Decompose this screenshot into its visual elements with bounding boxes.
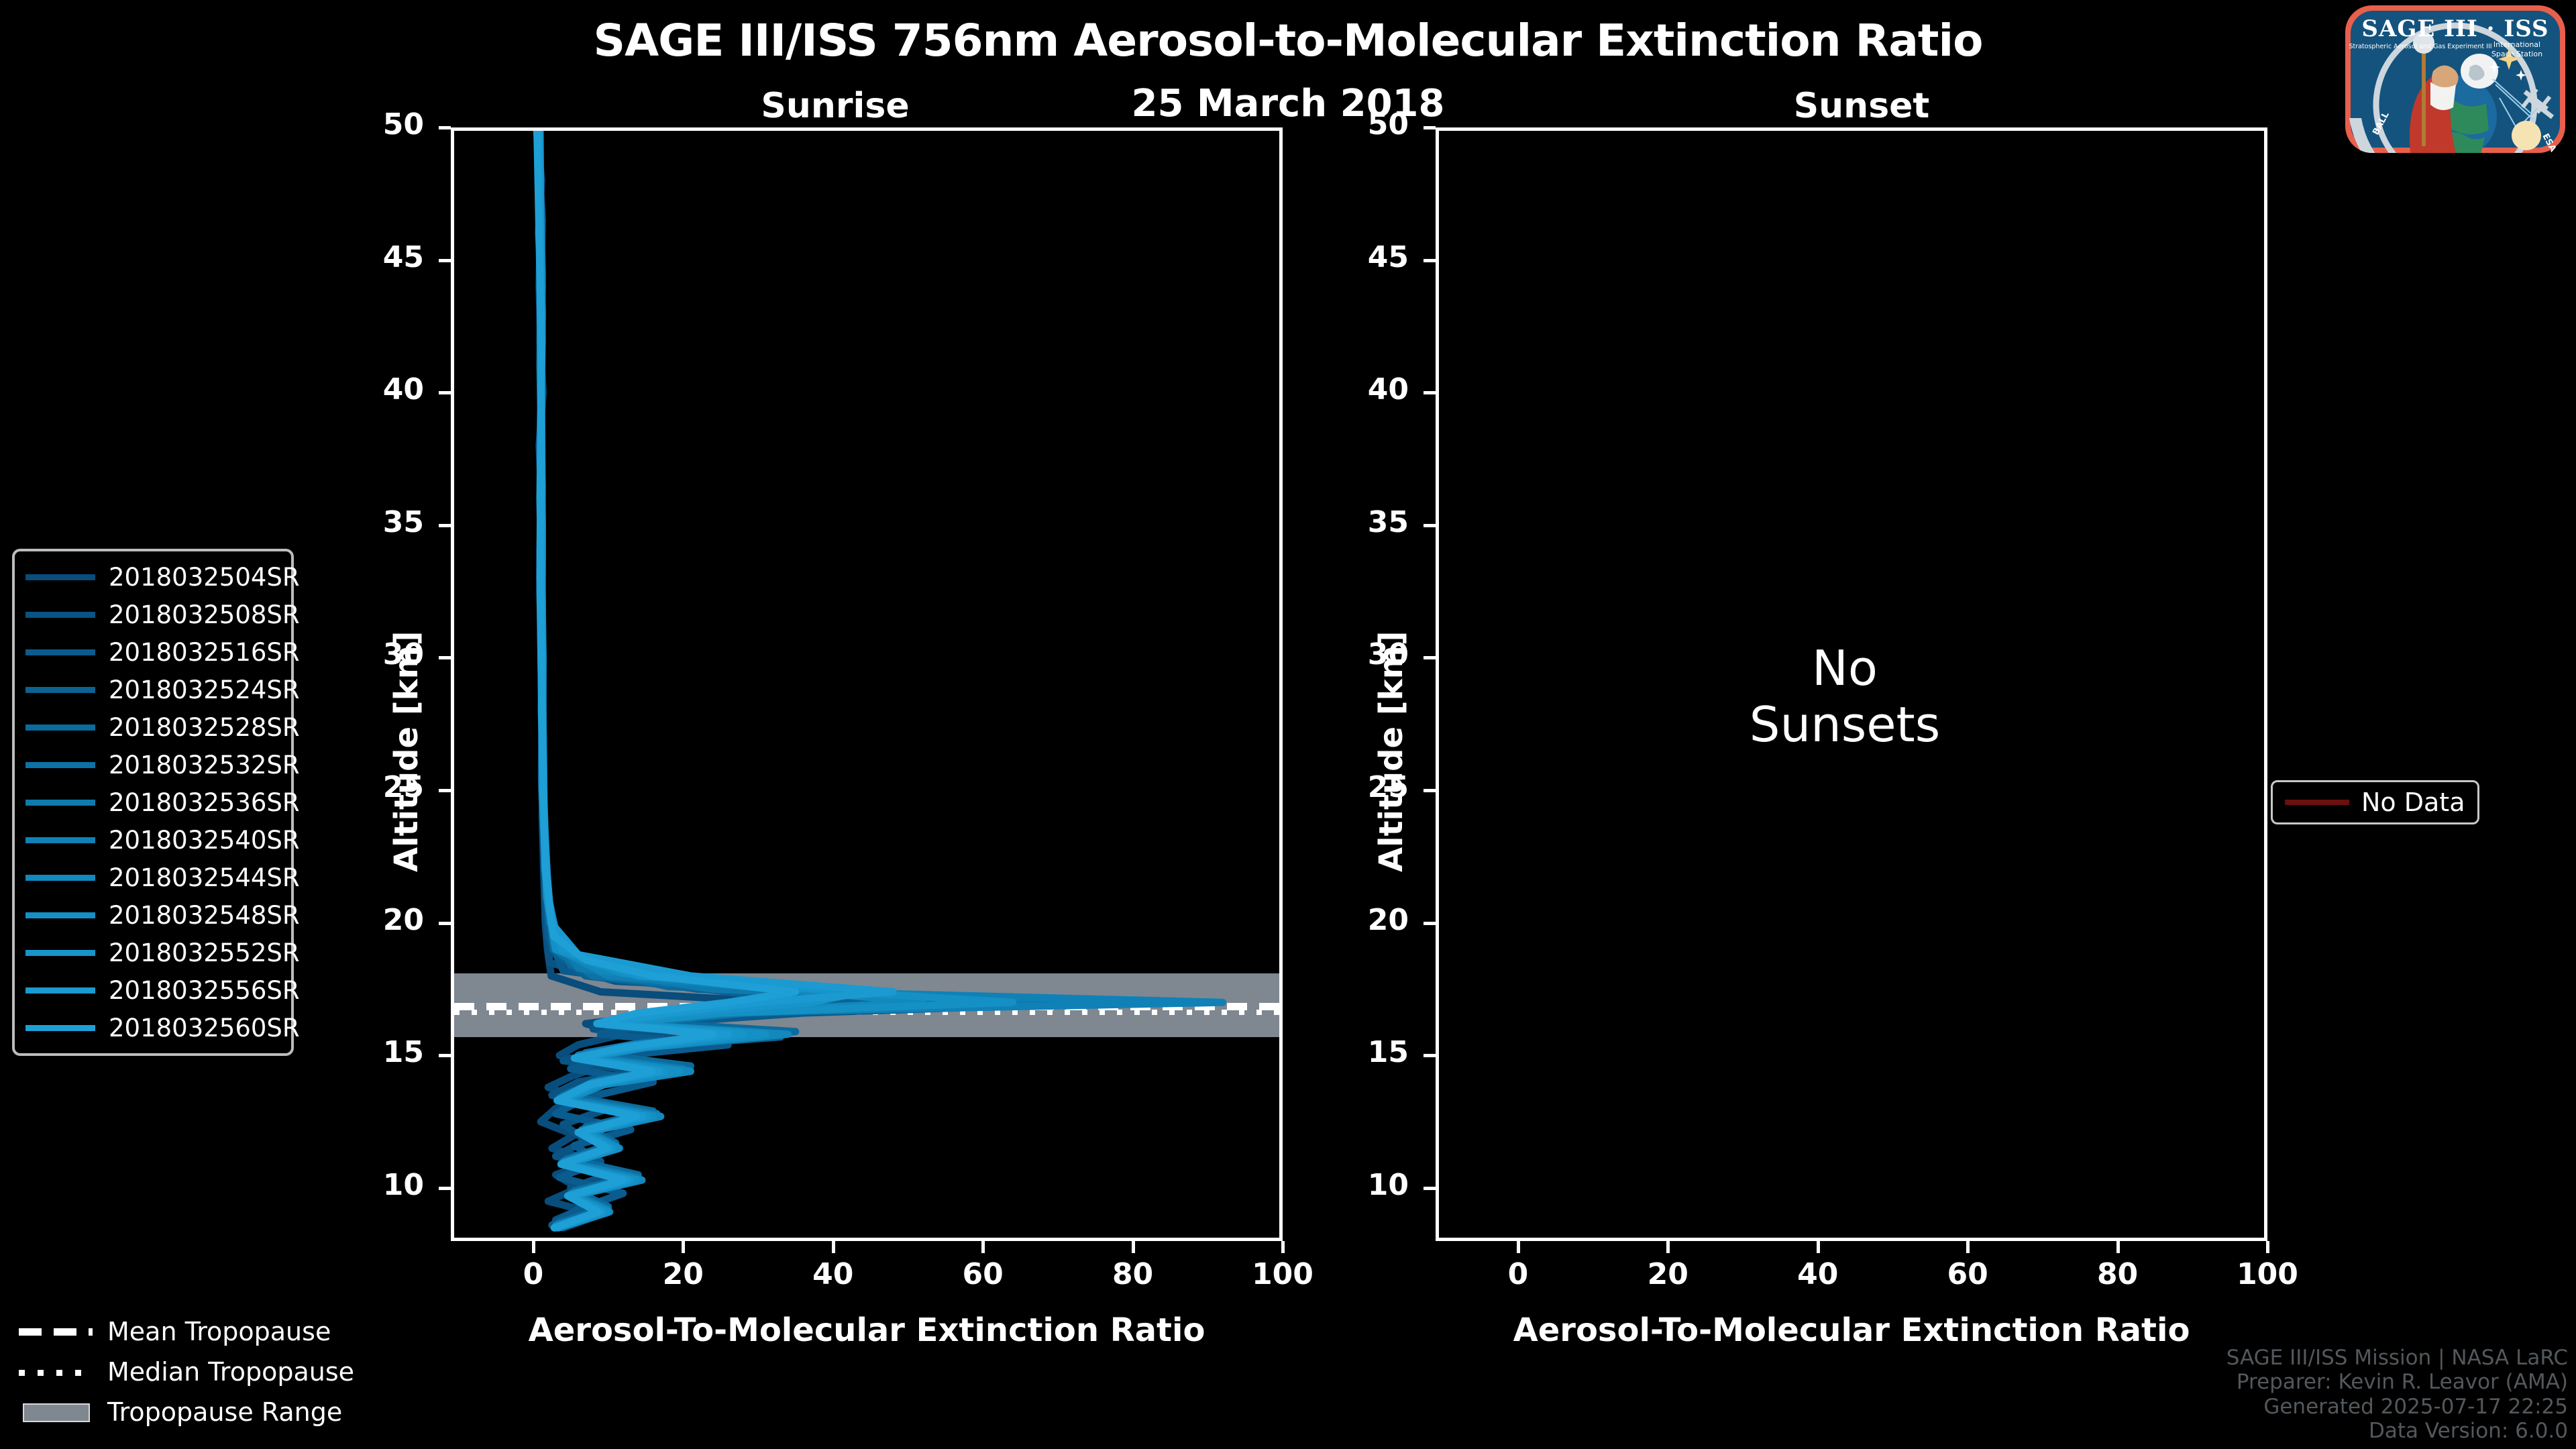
x-tick-label: 20 [1611,1257,1725,1291]
x-tick-label: 100 [1226,1257,1340,1291]
x-tick-mark [1666,1241,1670,1253]
legend-item[interactable]: 2018032508SR [15,596,291,633]
x-tick-label: 0 [476,1257,590,1291]
x-tick-mark [2266,1241,2269,1253]
x-tick-label: 0 [1461,1257,1575,1291]
y-tick-mark [439,391,451,394]
legend-label: 2018032556SR [109,976,300,1005]
y-tick-label: 20 [1295,903,1409,937]
x-tick-mark [1132,1241,1135,1253]
x-tick-label: 60 [926,1257,1040,1291]
legend-label: Median Tropopause [107,1357,354,1387]
legend-item[interactable]: 2018032516SR [15,633,291,671]
legend-label: 2018032516SR [109,638,300,667]
sunrise-panel-title: Sunrise [402,86,1268,126]
legend-item[interactable]: 2018032556SR [15,971,291,1009]
legend-color-swatch [25,574,95,580]
legend-color-swatch [25,687,95,693]
data-trace [537,131,1223,1225]
y-tick-mark [1424,524,1436,527]
y-tick-mark [439,524,451,527]
legend-color-swatch [25,837,95,843]
y-tick-mark [439,126,451,129]
x-tick-mark [682,1241,685,1253]
footer-line-generated: Generated 2025-07-17 22:25 [2226,1395,2568,1419]
svg-text:International: International [2493,40,2540,49]
legend-label: 2018032540SR [109,826,300,855]
legend-color-swatch [25,1025,95,1031]
no-sunsets-message: No Sunsets [1597,641,2093,753]
footer-line-mission: SAGE III/ISS Mission | NASA LaRC [2226,1346,2568,1371]
legend-color-swatch [25,875,95,881]
y-tick-mark [439,922,451,925]
legend-item[interactable]: 2018032544SR [15,859,291,896]
legend-label: 2018032536SR [109,788,300,817]
y-tick-label: 15 [1295,1035,1409,1069]
y-tick-label: 50 [1295,107,1409,142]
x-tick-label: 40 [776,1257,890,1291]
y-tick-label: 15 [310,1035,424,1069]
sunrise-plot-area[interactable] [451,127,1283,1241]
y-tick-mark [1424,259,1436,262]
legend-label: 2018032528SR [109,713,300,742]
x-tick-mark [981,1241,985,1253]
legend-item-median-tropopause: Median Tropopause [19,1352,381,1392]
legend-color-swatch [25,612,95,618]
series-legend[interactable]: 2018032504SR 2018032508SR 2018032516SR 2… [12,549,294,1056]
y-tick-mark [1424,922,1436,925]
x-tick-mark [1817,1241,1820,1253]
y-tick-mark [439,789,451,792]
footer-line-preparer: Preparer: Kevin R. Leavor (AMA) [2226,1370,2568,1395]
y-tick-mark [1424,1187,1436,1190]
svg-text:Stratospheric Aerosol and Gas: Stratospheric Aerosol and Gas Experiment… [2349,43,2491,50]
legend-label: Tropopause Range [107,1397,342,1427]
x-tick-label: 60 [1911,1257,2025,1291]
legend-item[interactable]: 2018032552SR [15,934,291,971]
legend-item[interactable]: 2018032532SR [15,746,291,784]
legend-item-tropopause-range: Tropopause Range [19,1392,381,1432]
y-tick-mark [439,1187,451,1190]
x-tick-mark [532,1241,535,1253]
legend-label: 2018032544SR [109,863,300,892]
x-tick-mark [1517,1241,1520,1253]
y-tick-mark [439,656,451,659]
y-tick-label: 20 [310,903,424,937]
legend-label: 2018032508SR [109,600,300,629]
legend-item[interactable]: 2018032536SR [15,784,291,821]
page-title: SAGE III/ISS 756nm Aerosol-to-Molecular … [0,15,2576,66]
dashed-line-icon [19,1323,93,1340]
filled-band-icon [19,1403,93,1421]
sunrise-x-axis-label: Aerosol-To-Molecular Extinction Ratio [451,1311,1283,1349]
legend-item[interactable]: 2018032548SR [15,896,291,934]
sunset-x-axis-label: Aerosol-To-Molecular Extinction Ratio [1436,1311,2267,1349]
svg-text:SAGE III · ISS: SAGE III · ISS [2361,15,2548,42]
legend-item-mean-tropopause: Mean Tropopause [19,1311,381,1352]
y-tick-mark [439,1054,451,1057]
figure-canvas: SAGE III/ISS 756nm Aerosol-to-Molecular … [0,0,2576,1449]
x-tick-mark [1281,1241,1285,1253]
legend-color-swatch [25,912,95,918]
legend-label: No Data [2361,788,2465,817]
y-tick-label: 45 [310,240,424,274]
legend-color-swatch [25,724,95,731]
x-tick-label: 40 [1761,1257,1875,1291]
y-tick-label: 45 [1295,240,1409,274]
legend-color-swatch [25,987,95,994]
legend-color-swatch [25,950,95,956]
footer-credits: SAGE III/ISS Mission | NASA LaRC Prepare… [2226,1346,2568,1444]
y-tick-mark [1424,391,1436,394]
x-tick-label: 100 [2210,1257,2324,1291]
x-tick-mark [2116,1241,2120,1253]
legend-item[interactable]: 2018032524SR [15,671,291,708]
y-tick-label: 50 [310,107,424,142]
y-tick-mark [1424,789,1436,792]
y-tick-label: 35 [1295,505,1409,539]
legend-label: Mean Tropopause [107,1317,331,1346]
legend-item[interactable]: 2018032560SR [15,1009,291,1046]
legend-item[interactable]: 2018032540SR [15,821,291,859]
sage-iii-iss-logo: SAGE III · ISS Stratospheric Aerosol and… [2341,4,2569,154]
legend-label: 2018032560SR [109,1014,300,1042]
y-tick-mark [439,259,451,262]
x-tick-label: 80 [1076,1257,1190,1291]
sunrise-data-traces [454,131,1279,1238]
legend-label: 2018032548SR [109,901,300,930]
y-tick-label: 35 [310,505,424,539]
legend-label: 2018032532SR [109,751,300,780]
legend-label: 2018032552SR [109,938,300,967]
legend-item[interactable]: 2018032504SR [15,558,291,596]
legend-label: 2018032524SR [109,676,300,704]
svg-text:Space Station: Space Station [2491,50,2542,58]
no-data-legend[interactable]: No Data [2271,780,2479,824]
footer-line-version: Data Version: 6.0.0 [2226,1419,2568,1444]
x-tick-label: 20 [626,1257,740,1291]
sunset-panel-title: Sunset [1429,86,2294,126]
x-tick-mark [832,1241,835,1253]
y-tick-label: 10 [1295,1168,1409,1202]
legend-item[interactable]: 2018032528SR [15,708,291,746]
y-tick-label: 10 [310,1168,424,1202]
sunrise-y-axis-label: Altitude [km] [388,631,425,872]
legend-color-swatch [2285,800,2349,805]
legend-label: 2018032504SR [109,563,300,592]
legend-color-swatch [25,649,95,655]
y-tick-mark [1424,656,1436,659]
y-tick-mark [1424,126,1436,129]
x-tick-mark [1966,1241,1970,1253]
legend-color-swatch [25,800,95,806]
legend-color-swatch [25,762,95,768]
y-tick-mark [1424,1054,1436,1057]
tropopause-legend: Mean Tropopause Median Tropopause Tropop… [19,1311,381,1432]
y-tick-label: 40 [310,372,424,407]
sunset-y-axis-label: Altitude [km] [1373,631,1410,872]
dotted-line-icon [19,1363,93,1381]
y-tick-label: 40 [1295,372,1409,407]
x-tick-label: 80 [2061,1257,2175,1291]
